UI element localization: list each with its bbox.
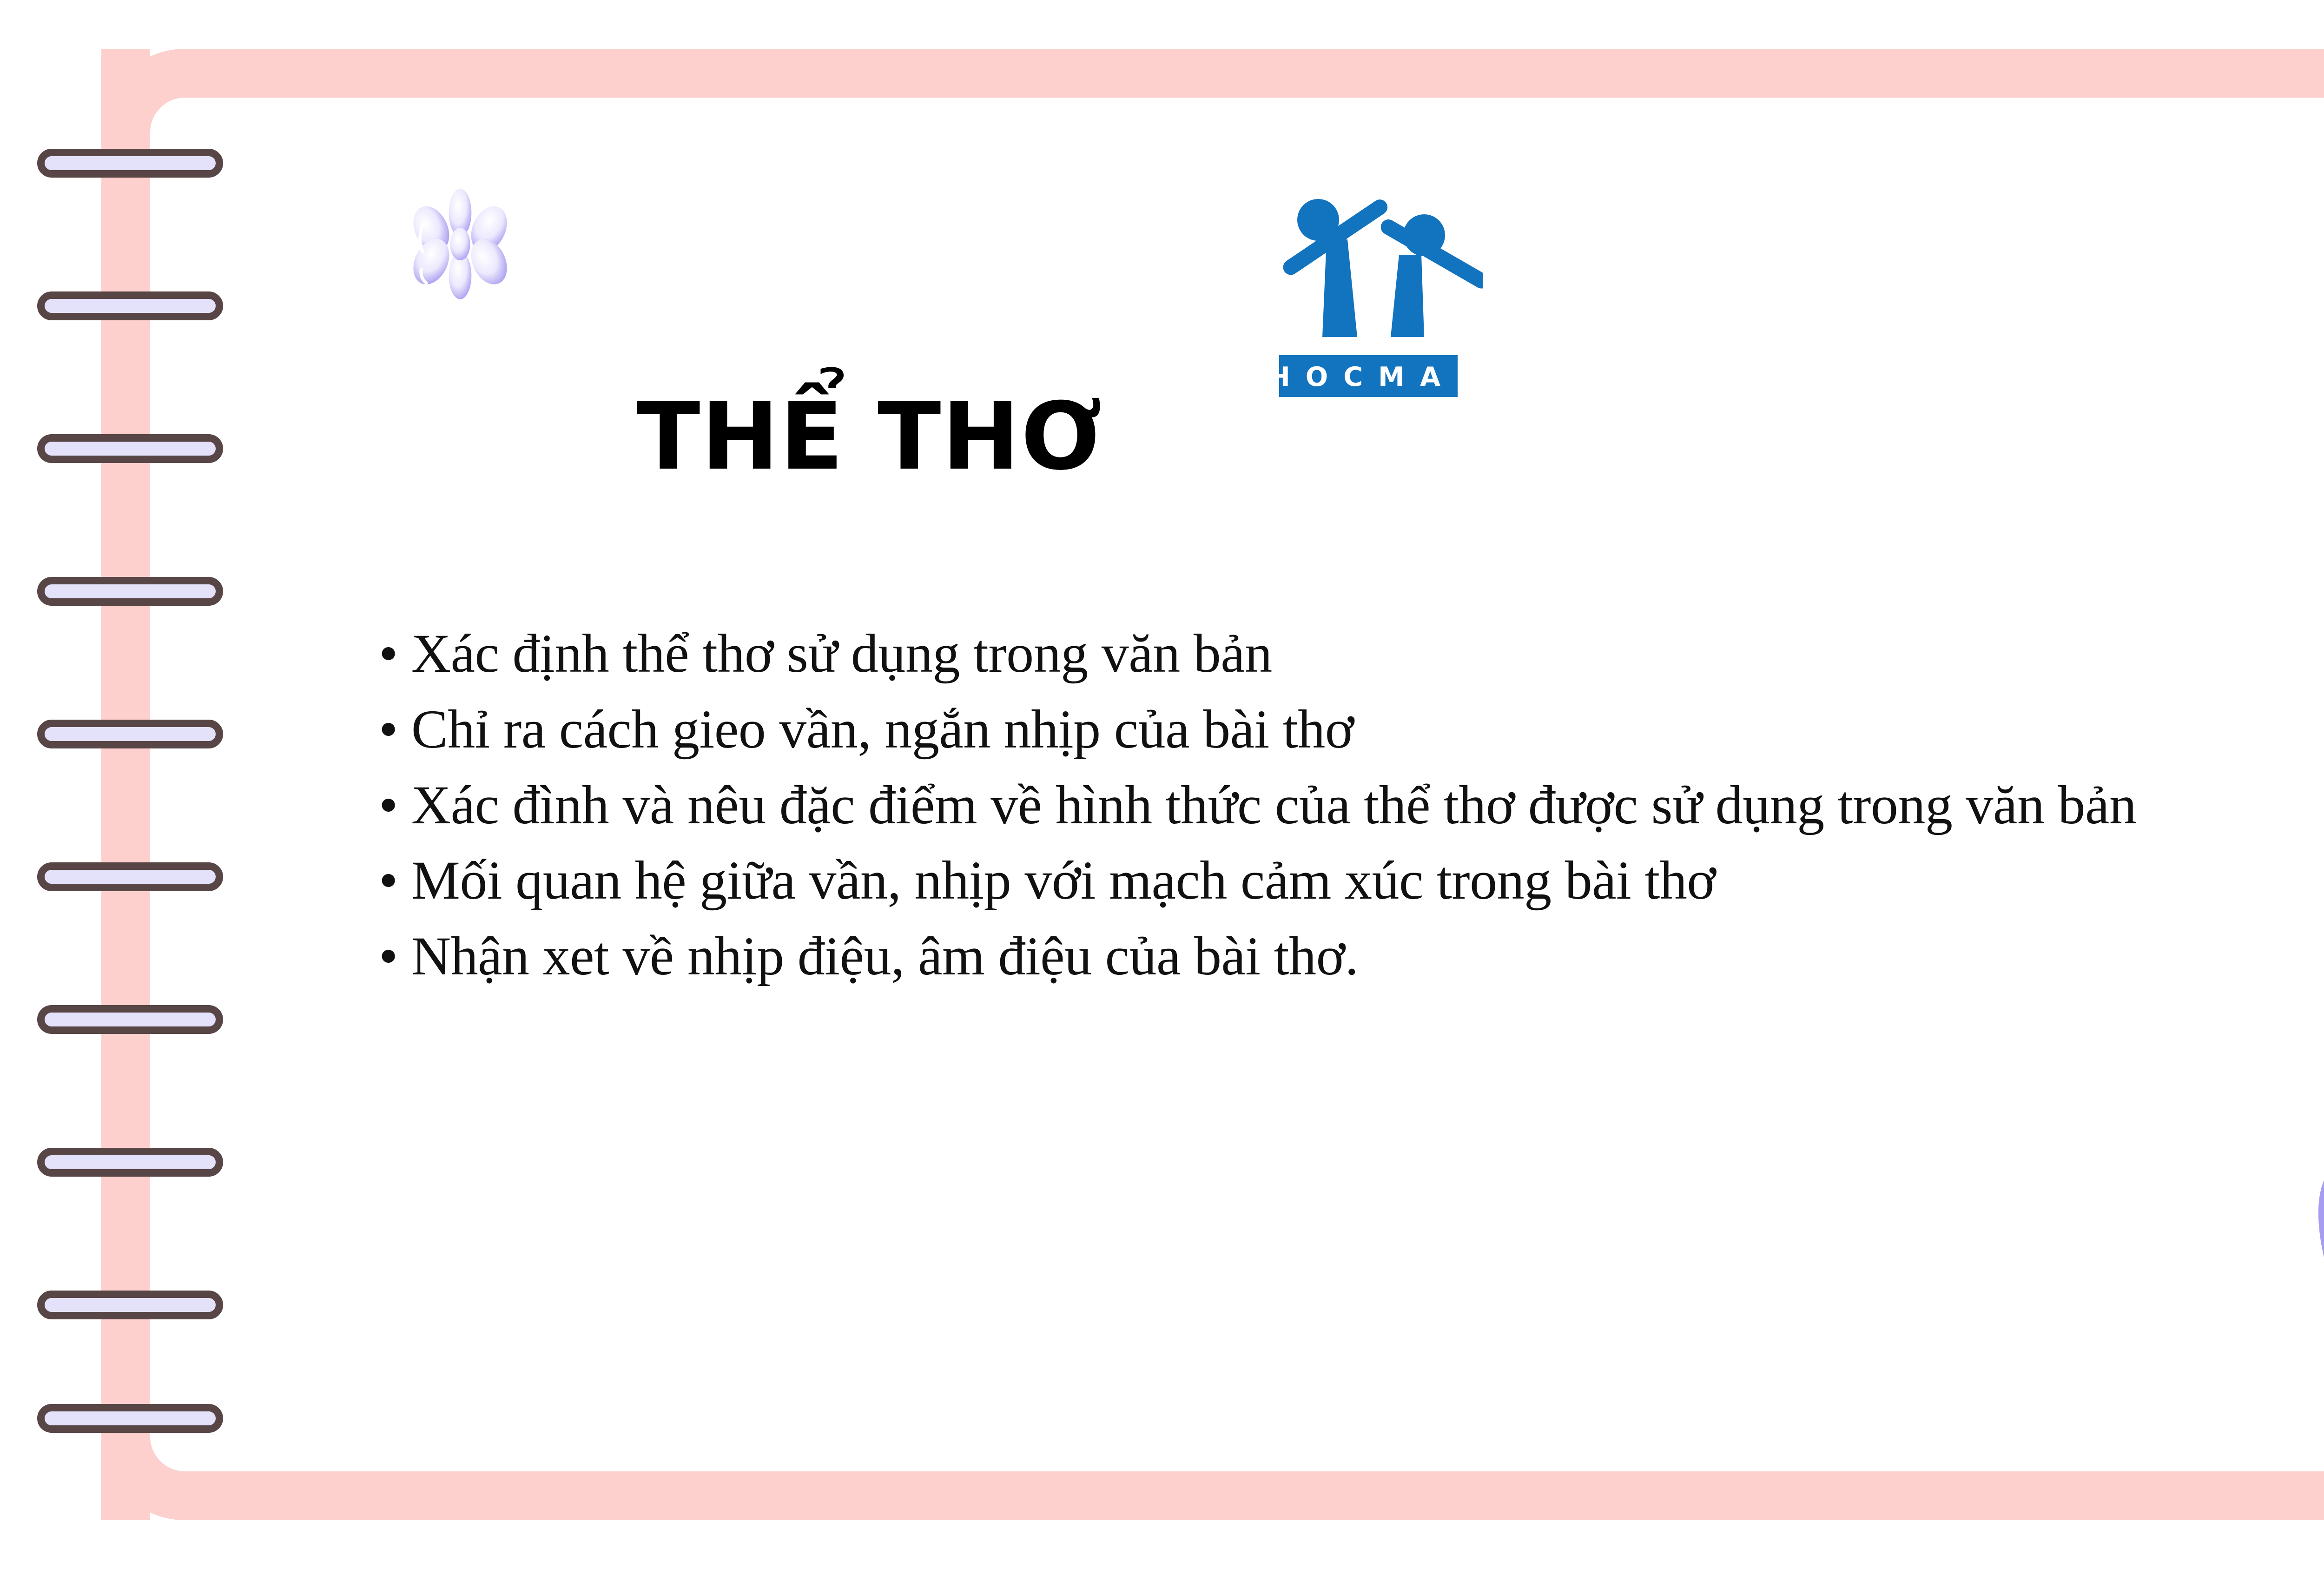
- binding-ring: [37, 291, 223, 320]
- spiral-binding: [0, 0, 325, 1569]
- bullet-list: • Xác định thể thơ sử dụng trong văn bản…: [379, 616, 2324, 994]
- list-item: • Nhận xet về nhịp điệu, âm điệu của bài…: [379, 919, 2324, 994]
- bow-icon: [2308, 1123, 2324, 1369]
- hocmai-figures-icon: [1280, 197, 1483, 337]
- flower-icon: [397, 181, 523, 307]
- binding-ring: [37, 1291, 223, 1319]
- binding-ring: [37, 577, 223, 606]
- list-item: • Xác định thể thơ sử dụng trong văn bản: [379, 616, 2324, 692]
- list-item: • Chỉ ra cách gieo vần, ngắn nhịp của bà…: [379, 692, 2324, 768]
- list-item: • Xác đình và nêu đặc điểm về hình thức …: [379, 768, 2324, 843]
- binding-ring: [37, 862, 223, 891]
- hocmai-logo: H O C M A I: [1246, 177, 1483, 400]
- binding-ring: [37, 1404, 223, 1433]
- binding-ring: [37, 1148, 223, 1177]
- binding-ring: [37, 434, 223, 463]
- binding-ring: [37, 149, 223, 178]
- page-title: THỂ THƠ: [637, 388, 1103, 486]
- binding-ring: [37, 720, 223, 748]
- hocmai-wordmark: H O C M A I: [1268, 362, 1469, 392]
- list-item: • Mối quan hệ giữa vần, nhịp với mạch cả…: [379, 843, 2324, 919]
- slide-canvas: H O C M A I THỂ THƠ • Xác định thể thơ s…: [0, 0, 2324, 1569]
- binding-ring: [37, 1005, 223, 1034]
